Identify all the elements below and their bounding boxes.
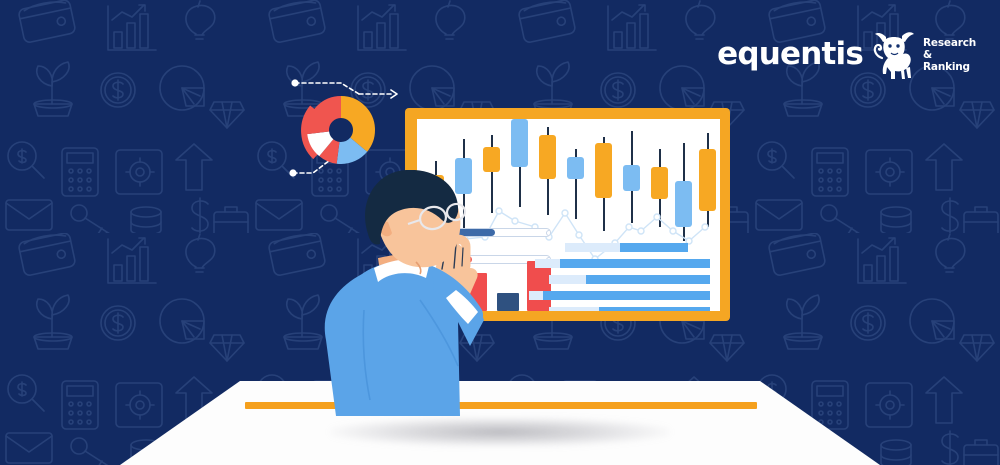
progress-bar-row	[529, 291, 710, 300]
tagline-ampersand: &	[923, 49, 976, 61]
donut-chart	[283, 72, 398, 184]
progress-bar-row	[535, 259, 710, 268]
progress-bar-filled	[620, 243, 688, 252]
progress-bar-filled	[560, 259, 711, 268]
candlestick	[511, 119, 528, 311]
tagline-research: Research	[923, 37, 976, 49]
bull-icon	[868, 28, 918, 80]
progress-bar-filled	[586, 275, 710, 284]
illustration-canvas: BUY SELL	[0, 0, 1000, 465]
progress-bar-remaining	[549, 307, 599, 311]
progress-bar-remaining	[565, 243, 620, 252]
progress-bar-remaining	[535, 259, 560, 268]
progress-bar-remaining	[549, 275, 586, 284]
progress-bar-row	[549, 307, 710, 311]
tagline-ranking: Ranking	[923, 61, 976, 73]
volume-bar	[527, 261, 551, 311]
connector-arrow-right	[391, 90, 397, 98]
analyst-figure	[270, 170, 500, 416]
equentis-logo[interactable]: equentis Research & Ranking	[717, 28, 976, 80]
progress-bar-filled	[599, 307, 710, 311]
progress-bar-filled	[543, 291, 710, 300]
logo-tagline: Research & Ranking	[923, 35, 976, 73]
logo-wordmark: equentis	[717, 39, 863, 70]
volume-bar	[497, 293, 519, 311]
connector-dot-top-left	[291, 79, 298, 86]
desk-shadow	[330, 417, 670, 447]
progress-bar-remaining	[529, 291, 543, 300]
progress-bar-row	[549, 275, 710, 284]
progress-bar-row	[565, 243, 710, 252]
buy-slider-knob-right[interactable]	[546, 230, 551, 236]
